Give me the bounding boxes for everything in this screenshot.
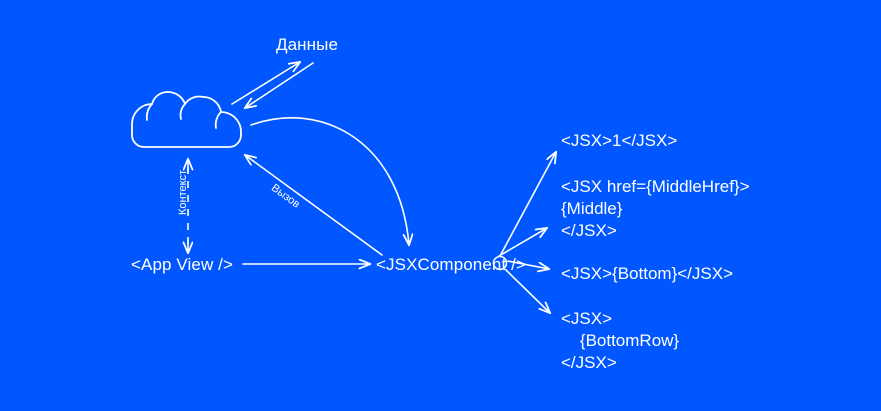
call-arrow xyxy=(245,155,382,255)
branch-arrow-jsx-one xyxy=(500,152,556,256)
output-jsx-one: <JSX>1</JSX> xyxy=(561,129,677,152)
output-jsx-bottomrow-body: {BottomRow} xyxy=(561,329,679,352)
output-jsx-bottomrow-open: <JSX> xyxy=(561,307,612,330)
output-jsx-bottomrow-close: </JSX> xyxy=(561,351,617,374)
output-jsx-middle-open: <JSX href={MiddleHref}> xyxy=(561,175,750,198)
data-arrow-up xyxy=(232,62,300,104)
data-arrow-down xyxy=(245,63,313,108)
render-arc-arrow xyxy=(251,118,409,245)
output-jsx-middle-close: </JSX> xyxy=(561,219,617,242)
node-jsx-component: <JSXComponent /> xyxy=(376,253,526,276)
branch-arrow-jsx-bottomrow xyxy=(506,270,550,313)
output-jsx-middle-body: {Middle} xyxy=(561,197,622,220)
context-label: Контекст xyxy=(177,170,189,215)
diagram-canvas: Данные Контекст Вызов <App View /> <JSXC… xyxy=(0,0,881,411)
output-jsx-bottom: <JSX>{Bottom}</JSX> xyxy=(561,262,733,285)
diagram-vector-layer xyxy=(0,0,881,411)
node-app-view: <App View /> xyxy=(131,253,233,276)
branch-arrow-jsx-middle xyxy=(499,228,547,256)
data-flow-label: Данные xyxy=(276,33,338,56)
cloud-icon xyxy=(132,92,241,147)
